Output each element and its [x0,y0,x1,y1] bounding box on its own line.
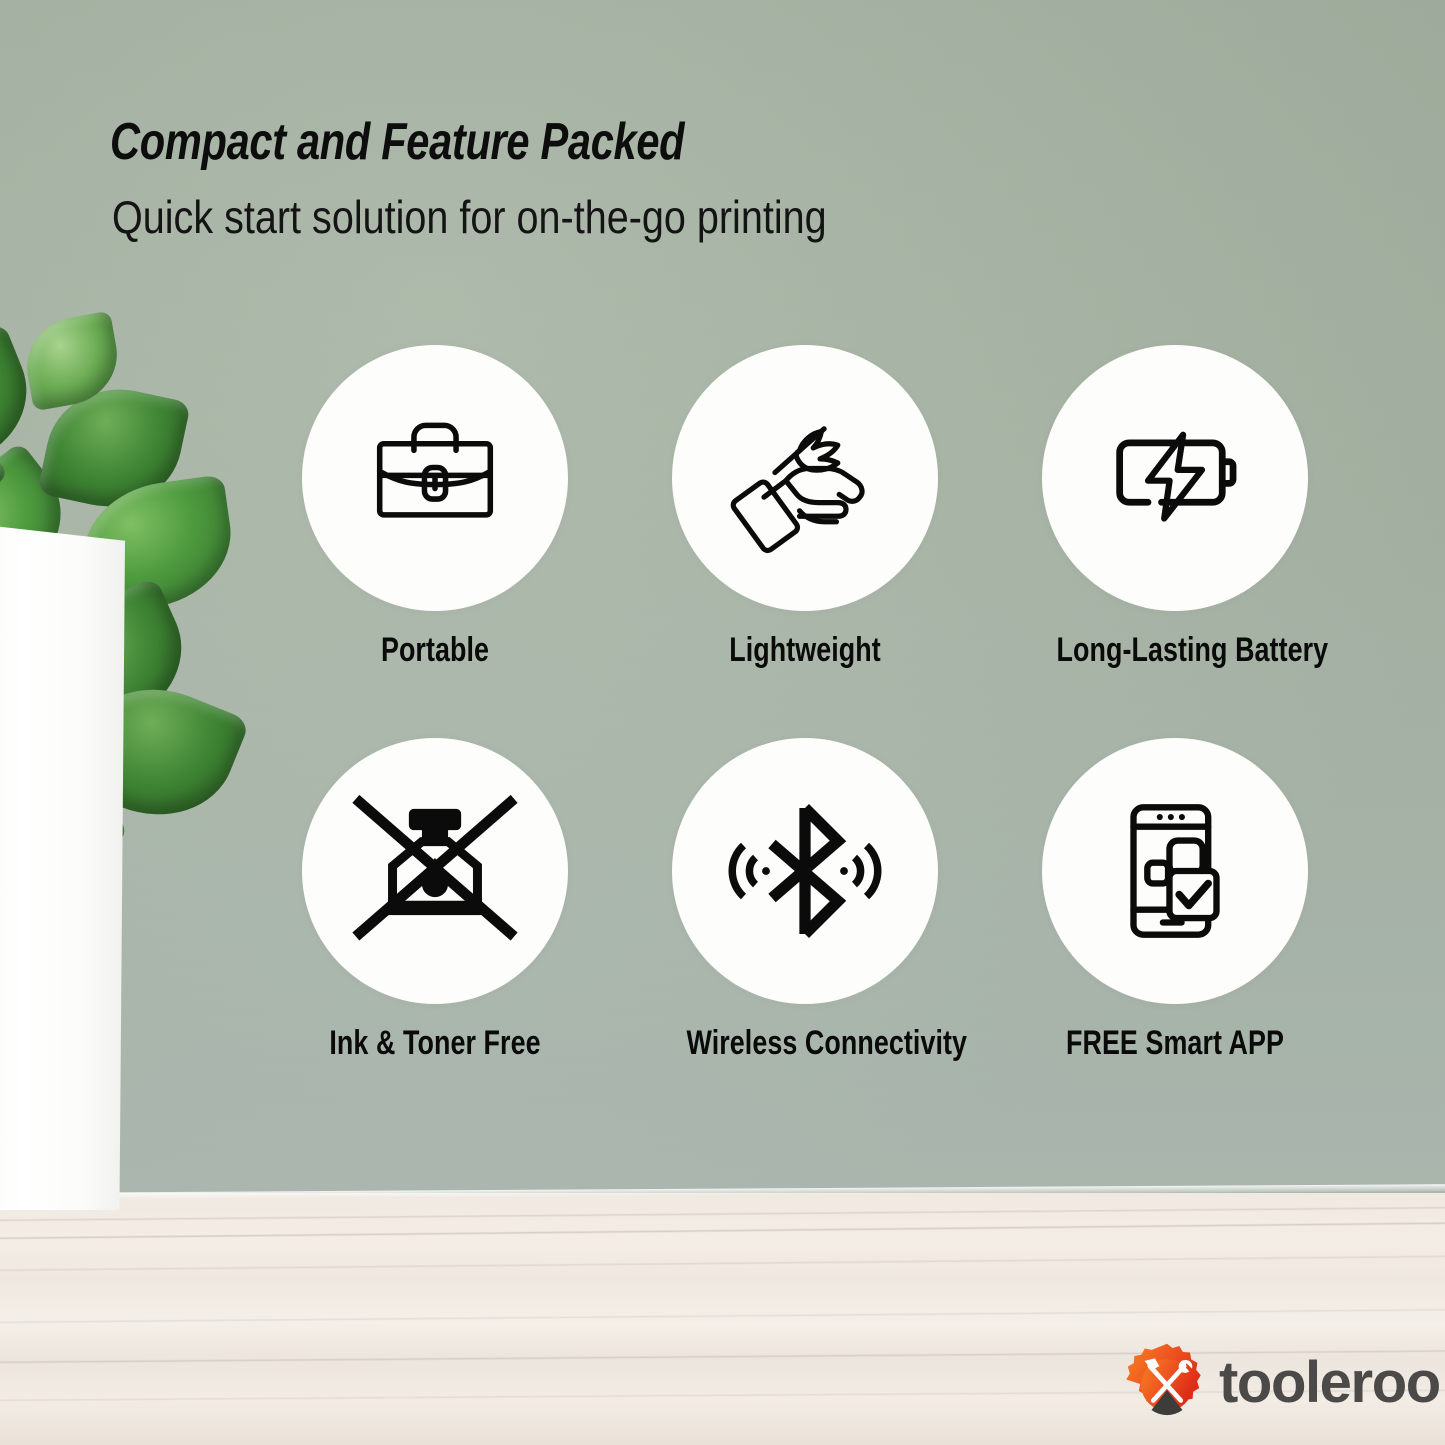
feature-item-portable: Portable [285,345,585,667]
feature-icon-circle [1042,738,1308,1004]
no-ink-bottle-icon [337,773,533,969]
battery-bolt-icon [1094,397,1256,559]
feature-label: Ink & Toner Free [317,1026,554,1060]
gear-hammer-wrench-icon [1124,1342,1210,1428]
feature-grid: Portable Lightweight [0,0,1445,1445]
feature-label: Lightweight [687,633,924,667]
feature-item-wireless: Wireless Connectivity [655,738,955,1060]
feature-label: Wireless Connectivity [687,1026,924,1060]
infographic-canvas: Compact and Feature Packed Quick start s… [0,0,1445,1445]
feature-item-battery: Long-Lasting Battery [1025,345,1325,667]
feature-label: FREE Smart APP [1057,1026,1294,1060]
brand-name: tooleroo [1219,1354,1440,1412]
brand-logo[interactable]: tooleroo [1124,1342,1440,1428]
feature-icon-circle [1042,345,1308,611]
feature-icon-circle [302,345,568,611]
phone-app-check-icon [1092,788,1258,954]
hand-feather-icon [723,396,887,560]
feature-label: Long-Lasting Battery [1057,633,1294,667]
feature-label: Portable [317,633,554,667]
feature-item-lightweight: Lightweight [655,345,955,667]
feature-item-smart-app: FREE Smart APP [1025,738,1325,1060]
bluetooth-signal-icon [715,781,895,961]
feature-item-ink-free: Ink & Toner Free [285,738,585,1060]
feature-icon-circle [672,738,938,1004]
briefcase-icon [356,399,514,557]
feature-icon-circle [672,345,938,611]
feature-icon-circle [302,738,568,1004]
